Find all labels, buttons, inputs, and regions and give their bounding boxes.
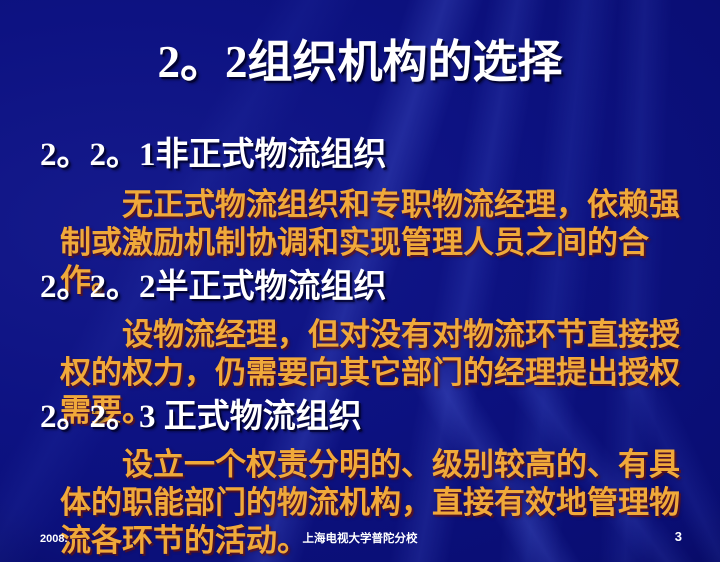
slide-content: 2。2组织机构的选择 2。2。1非正式物流组织 无正式物流组织和专职物流经理，依… <box>0 0 720 562</box>
section-heading-2: 2。2。2半正式物流组织 <box>40 268 387 306</box>
footer-organization: 上海电视大学普陀分校 <box>0 532 720 546</box>
section-heading-3: 2。2。3 正式物流组织 <box>40 398 362 436</box>
section-heading-1: 2。2。1非正式物流组织 <box>40 136 387 174</box>
presentation-slide: 2。2组织机构的选择 2。2。1非正式物流组织 无正式物流组织和专职物流经理，依… <box>0 0 720 562</box>
slide-title: 2。2组织机构的选择 <box>0 36 720 88</box>
footer-page-number: 3 <box>675 530 682 544</box>
